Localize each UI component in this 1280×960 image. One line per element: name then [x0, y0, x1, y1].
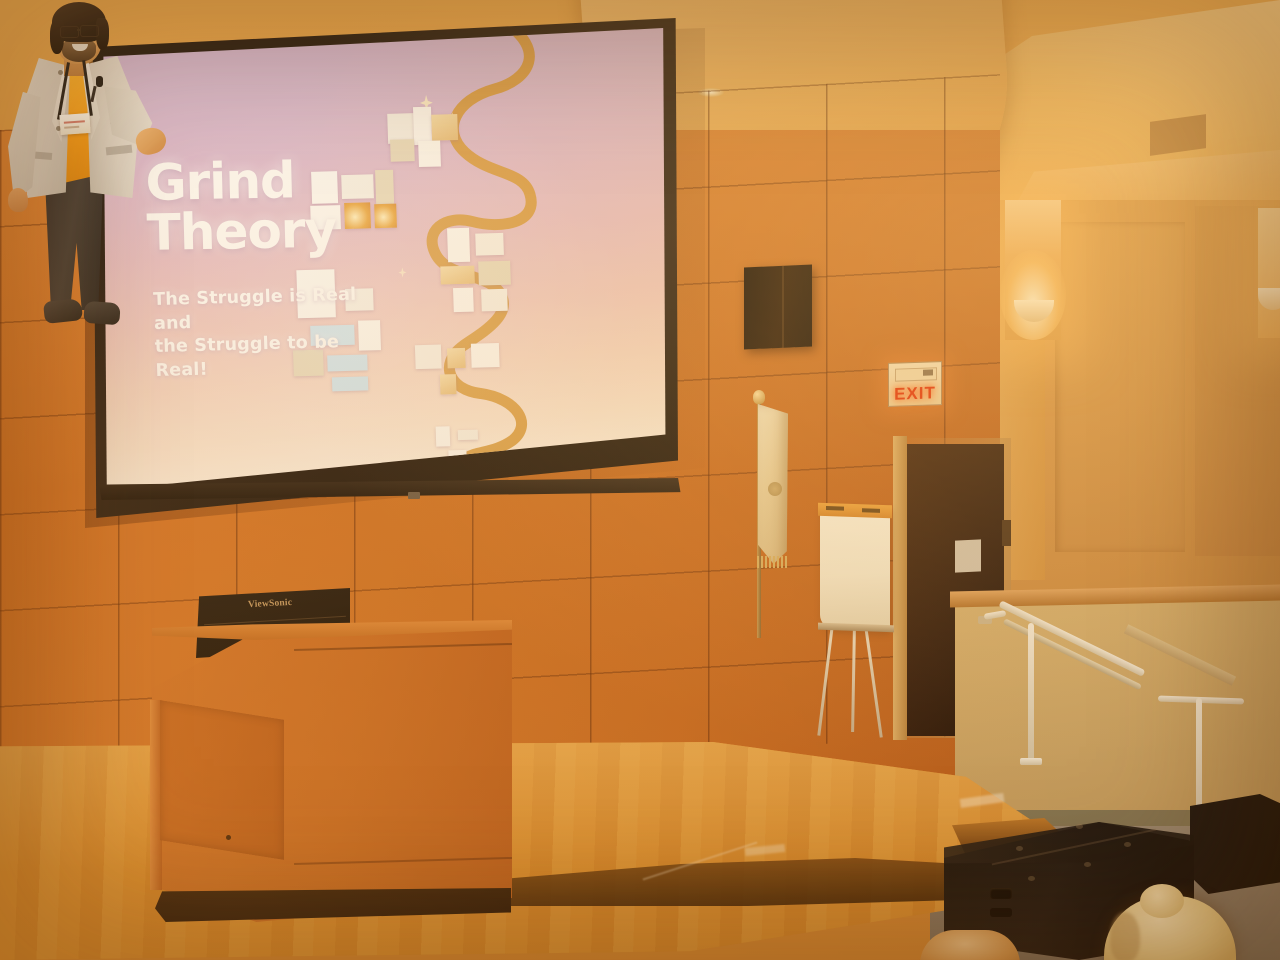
name-badge	[59, 113, 90, 135]
wall-recess-panel	[1055, 222, 1185, 552]
flip-chart-pad	[820, 505, 890, 631]
speaker-handle	[990, 908, 1012, 917]
speaker-screw	[1076, 824, 1083, 829]
speaker-screw	[1028, 876, 1035, 881]
lapel-microphone-icon	[96, 76, 103, 87]
stage-monitor-small	[1190, 794, 1280, 894]
screen-pull-tab[interactable]	[408, 492, 420, 499]
glasses-bridge	[77, 29, 81, 31]
slide-content: Grind Theory The Struggle is Real and th…	[100, 28, 666, 490]
flag-fringe	[757, 556, 789, 568]
exit-sign-label: EXIT	[894, 384, 936, 405]
slide-subtitle-line2: the Struggle to be Real!	[154, 332, 339, 380]
slide-photo-card	[447, 228, 470, 263]
presenter-shoe-right	[83, 301, 120, 325]
exit-sign-tab	[923, 369, 933, 375]
wall-sconce-glow	[1000, 250, 1066, 340]
speaker-screw	[1124, 842, 1131, 847]
slide-photo-card	[415, 345, 442, 370]
slide-subtitle-line1: The Struggle is Real and	[153, 285, 357, 334]
exit-sign: EXIT	[888, 361, 942, 407]
slide-photo-card	[447, 348, 466, 368]
slide-subtitle: The Struggle is Real and the Struggle to…	[153, 283, 386, 383]
handrail-post	[1028, 623, 1034, 763]
slide-photo-card	[471, 343, 500, 368]
slide-photo-card	[413, 107, 432, 145]
presenter-hand-left	[8, 188, 28, 212]
slide-title: Grind Theory	[145, 153, 437, 258]
handrail-foot	[1020, 758, 1042, 765]
slide-winding-path-icon	[343, 29, 658, 487]
monitor-brand-label: ViewSonic	[248, 598, 293, 610]
speaker-screw	[1084, 862, 1091, 867]
slide-photo-card	[453, 288, 474, 313]
podium-side-panel	[160, 700, 284, 860]
speaker-handle	[990, 888, 1012, 899]
slide-photo-card	[436, 426, 451, 446]
wall-speaker-seam	[782, 266, 784, 348]
name-badge-text-line	[64, 120, 85, 123]
presenter-jacket-button	[58, 70, 63, 75]
door-hinge	[1002, 520, 1011, 546]
slide-photo-card	[481, 289, 508, 312]
podium-knob[interactable]	[226, 835, 231, 840]
door-notice-sign	[955, 539, 981, 572]
slide-photo-card	[440, 266, 475, 285]
door-jamb	[893, 436, 907, 740]
name-badge-text-line	[64, 126, 79, 129]
slide-photo-card	[478, 261, 511, 286]
audience-hair-bun	[1140, 884, 1184, 918]
auditorium-photo-scene: EXIT Grind Theory	[0, 0, 1280, 960]
audience-hair-strand	[1110, 912, 1140, 960]
flip-chart-clip	[826, 506, 844, 511]
slide-photo-card	[458, 430, 478, 441]
speaker-screw	[1016, 846, 1023, 851]
presenter-shoe-left	[43, 298, 83, 324]
flag-seal	[768, 482, 782, 496]
slide-photo-card	[440, 374, 457, 394]
glasses-icon	[60, 26, 79, 38]
flip-chart-clip	[862, 508, 880, 513]
wall-speaker	[744, 265, 812, 350]
flip-chart-header	[818, 503, 892, 519]
wall-sconce-far-right	[1258, 208, 1280, 338]
flag-finial	[753, 390, 765, 404]
slide-photo-card	[475, 233, 504, 256]
slide-photo-card	[431, 114, 458, 141]
projection-screen-surface: Grind Theory The Struggle is Real and th…	[100, 28, 666, 490]
glasses-icon	[80, 25, 99, 37]
